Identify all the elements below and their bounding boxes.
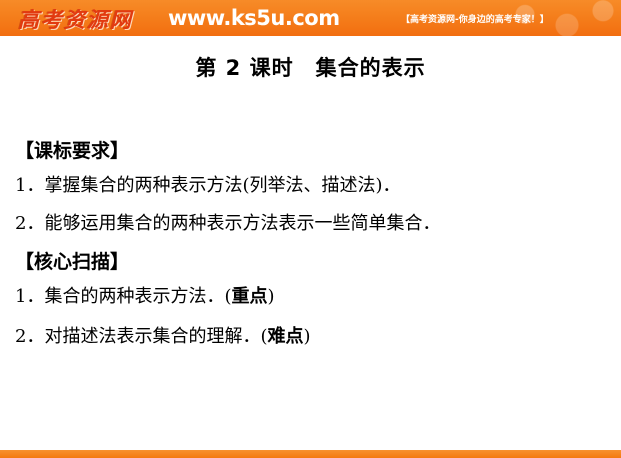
section-curriculum-requirements: 【课标要求】 1．掌握集合的两种表示方法(列举法、描述法)． 2．能够运用集合的…	[15, 142, 610, 233]
list-item: 1．集合的两种表示方法．(重点)	[15, 288, 610, 306]
section-heading: 【课标要求】	[15, 142, 610, 161]
page-title: 第 2 课时 集合的表示	[0, 52, 621, 82]
footer-accent-bar	[0, 450, 621, 458]
list-item-number: 1．	[15, 175, 44, 196]
list-item-text: 掌握集合的两种表示方法(列举法、描述法)．	[44, 175, 400, 196]
section-heading: 【核心扫描】	[15, 253, 610, 272]
site-url-text: www.ks5u.com	[168, 6, 340, 30]
site-header-banner: 高考资源网 www.ks5u.com 【高考资源网-你身边的高考专家！】	[0, 0, 621, 36]
list-item-suffix: )	[303, 326, 310, 347]
list-item: 2．能够运用集合的两种表示方法表示一些简单集合．	[15, 215, 610, 233]
list-item-emphasis: 重点	[231, 286, 267, 307]
list-item: 1．掌握集合的两种表示方法(列举法、描述法)．	[15, 177, 610, 195]
list-item-number: 1．	[15, 286, 44, 307]
site-logo-text: 高考资源网	[18, 4, 133, 34]
site-slogan-badge: 【高考资源网-你身边的高考专家！】	[401, 12, 549, 25]
slide-content: 【课标要求】 1．掌握集合的两种表示方法(列举法、描述法)． 2．能够运用集合的…	[15, 142, 610, 368]
list-item-text: 对描述法表示集合的理解．(	[44, 326, 267, 347]
list-item-number: 2．	[15, 213, 44, 234]
list-item-emphasis: 难点	[267, 326, 303, 347]
list-item-suffix: )	[267, 286, 274, 307]
list-item-text: 集合的两种表示方法．(	[44, 286, 231, 307]
list-item: 2．对描述法表示集合的理解．(难点)	[15, 328, 610, 346]
list-item-number: 2．	[15, 326, 44, 347]
list-item-text: 能够运用集合的两种表示方法表示一些简单集合．	[44, 213, 440, 234]
section-core-scan: 【核心扫描】 1．集合的两种表示方法．(重点) 2．对描述法表示集合的理解．(难…	[15, 253, 610, 346]
slide-canvas: 高考资源网 www.ks5u.com 【高考资源网-你身边的高考专家！】 第 2…	[0, 0, 621, 458]
